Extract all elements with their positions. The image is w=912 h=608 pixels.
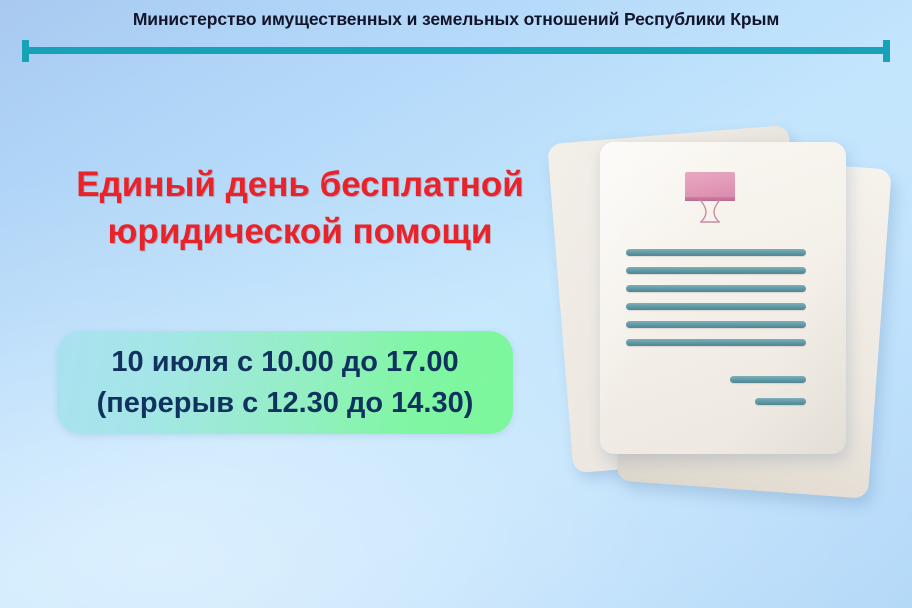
rule-cap-right-icon (883, 40, 890, 62)
document-text-line (626, 339, 806, 346)
binder-clip-icon (685, 172, 735, 230)
header: Министерство имущественных и земельных о… (0, 0, 912, 62)
document-text-line (626, 267, 806, 274)
rule-bar (22, 47, 890, 54)
clip-body (685, 172, 735, 199)
paper-sheet-front (600, 142, 846, 454)
document-signature-line (755, 398, 806, 405)
document-text-line (626, 285, 806, 292)
clip-handle-wire-icon (697, 199, 723, 225)
schedule-hours: 10 июля с 10.00 до 17.00 (111, 342, 458, 382)
organization-title: Министерство имущественных и земельных о… (0, 9, 912, 30)
headline-line-1: Единый день бесплатной (40, 162, 560, 209)
headline-line-2: юридической помощи (40, 209, 560, 256)
schedule-break: (перерыв с 12.30 до 14.30) (97, 383, 474, 423)
document-text-line (626, 303, 806, 310)
header-divider-rule (22, 40, 890, 62)
headline: Единый день бесплатной юридической помощ… (40, 162, 560, 255)
schedule-badge: 10 июля с 10.00 до 17.00 (перерыв с 12.3… (57, 331, 513, 434)
document-text-line (626, 249, 806, 256)
poster-canvas: Министерство имущественных и земельных о… (0, 0, 912, 608)
document-stack-illustration (548, 100, 912, 510)
document-text-line (626, 321, 806, 328)
document-signature-line (730, 376, 806, 383)
